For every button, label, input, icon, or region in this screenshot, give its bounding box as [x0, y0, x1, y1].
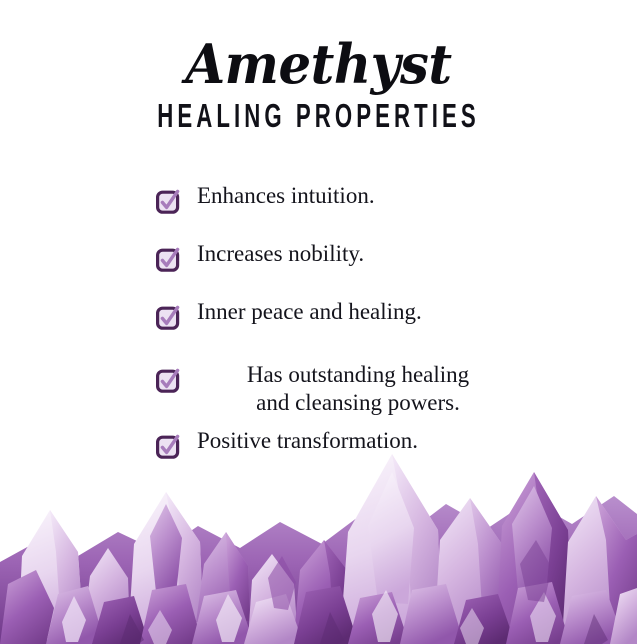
- healing-properties-list: Enhances intuition. Increases nobility. …: [156, 182, 556, 460]
- list-item-label: Inner peace and healing.: [180, 298, 556, 326]
- list-item: Enhances intuition.: [156, 182, 556, 215]
- checked-checkbox-icon: [156, 368, 180, 394]
- crystal-cluster-graphic: [0, 444, 637, 644]
- list-item-label: Has outstanding healing and cleansing po…: [180, 361, 556, 417]
- list-item-label: Increases nobility.: [180, 240, 556, 268]
- amethyst-crystal-cluster: [0, 444, 637, 644]
- checked-checkbox-icon: [156, 189, 180, 215]
- list-item-label: Enhances intuition.: [180, 182, 556, 210]
- page-subtitle: Healing Properties: [83, 98, 554, 136]
- amethyst-healing-properties-poster: Amethyst Healing Properties Enhances int…: [0, 0, 637, 644]
- list-item: Has outstanding healing and cleansing po…: [156, 361, 556, 417]
- list-item: Increases nobility.: [156, 240, 556, 273]
- poster-header: Amethyst Healing Properties: [0, 0, 637, 132]
- page-title: Amethyst: [16, 34, 621, 94]
- checked-checkbox-icon: [156, 247, 180, 273]
- checked-checkbox-icon: [156, 305, 180, 331]
- list-item: Inner peace and healing.: [156, 298, 556, 331]
